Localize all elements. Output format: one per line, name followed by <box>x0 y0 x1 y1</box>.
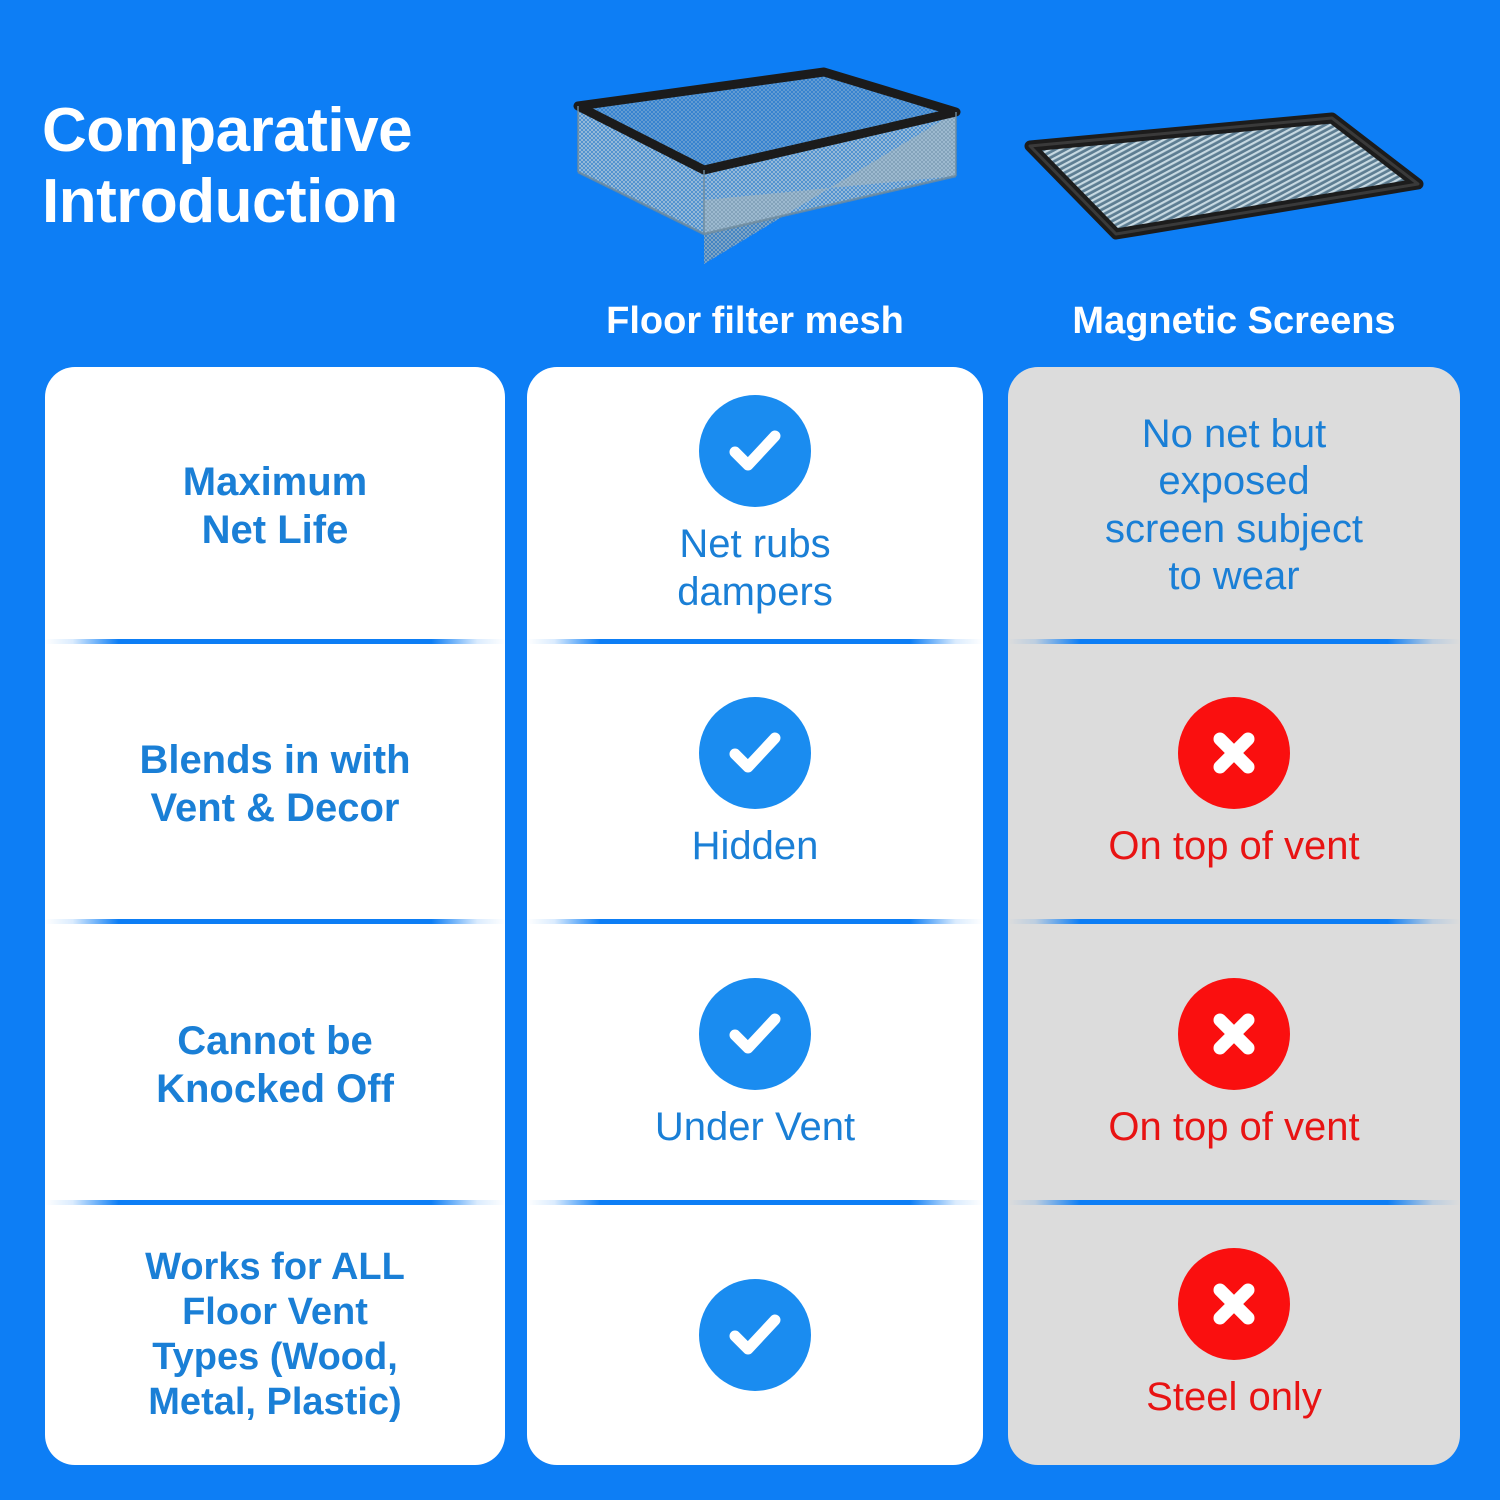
magnetic-screens-column-card: No net but exposed screen subject to wea… <box>1008 367 1460 1465</box>
feature-cell-cannot-be-knocked-off: Cannot be Knocked Off <box>45 924 505 1205</box>
magnetic-screen-panel-image <box>1014 88 1434 278</box>
cell-caption-line-2: dampers <box>677 569 833 616</box>
cell-caption-line-1: Net rubs <box>677 521 833 568</box>
floor-filter-mesh-column-card: Net rubs dampers Hidden Under Vent <box>527 367 983 1465</box>
check-icon <box>699 1279 811 1391</box>
feature-label-line-1: Maximum <box>183 458 368 506</box>
feature-cell-works-for-all-floor-vent-types: Works for ALL Floor Vent Types (Wood, Me… <box>45 1205 505 1465</box>
cell-caption: Net rubs dampers <box>677 521 833 615</box>
cell-caption: Steel only <box>1146 1374 1322 1421</box>
magnetic-cell-maximum-net-life: No net but exposed screen subject to wea… <box>1008 367 1460 644</box>
cell-caption-line-4: to wear <box>1105 553 1363 600</box>
feature-label: Maximum Net Life <box>183 458 368 554</box>
mesh-cell-works-for-all-vent-types <box>527 1205 983 1465</box>
magnetic-cell-blends-in: On top of vent <box>1008 644 1460 924</box>
cell-caption-line-2: exposed <box>1105 458 1363 505</box>
cell-caption: On top of vent <box>1108 823 1359 870</box>
check-icon <box>699 395 811 507</box>
feature-label-line-2: Floor Vent <box>145 1290 405 1335</box>
cell-caption: No net but exposed screen subject to wea… <box>1105 411 1363 600</box>
check-icon <box>699 697 811 809</box>
cell-caption-line-3: screen subject <box>1105 506 1363 553</box>
feature-label-line-4: Metal, Plastic) <box>145 1380 405 1425</box>
mesh-cell-maximum-net-life: Net rubs dampers <box>527 367 983 644</box>
feature-label: Works for ALL Floor Vent Types (Wood, Me… <box>145 1245 405 1424</box>
feature-cell-blends-in-with-vent-and-decor: Blends in with Vent & Decor <box>45 644 505 924</box>
cross-icon <box>1178 697 1290 809</box>
cross-icon <box>1178 1248 1290 1360</box>
page-title-line-1: Comparative <box>42 96 562 167</box>
check-icon <box>699 978 811 1090</box>
feature-label-line-2: Net Life <box>183 506 368 554</box>
feature-label: Blends in with Vent & Decor <box>139 736 410 832</box>
cell-caption: On top of vent <box>1108 1104 1359 1151</box>
feature-label-line-2: Vent & Decor <box>139 784 410 832</box>
feature-label-line-3: Types (Wood, <box>145 1335 405 1380</box>
page-title: Comparative Introduction <box>42 96 562 237</box>
cell-caption: Under Vent <box>655 1104 855 1151</box>
page-title-line-2: Introduction <box>42 167 562 238</box>
cell-caption: Hidden <box>692 823 819 870</box>
feature-label-line-2: Knocked Off <box>156 1065 394 1113</box>
floor-filter-mesh-basket-image <box>556 62 976 302</box>
feature-label: Cannot be Knocked Off <box>156 1017 394 1113</box>
cell-caption-line-1: No net but <box>1105 411 1363 458</box>
feature-label-line-1: Works for ALL <box>145 1245 405 1290</box>
features-column-card: Maximum Net Life Blends in with Vent & D… <box>45 367 505 1465</box>
feature-label-line-1: Blends in with <box>139 736 410 784</box>
magnetic-cell-cannot-be-knocked-off: On top of vent <box>1008 924 1460 1205</box>
feature-cell-maximum-net-life: Maximum Net Life <box>45 367 505 644</box>
cross-icon <box>1178 978 1290 1090</box>
mesh-cell-cannot-be-knocked-off: Under Vent <box>527 924 983 1205</box>
column-header-magnetic-screens: Magnetic Screens <box>1008 300 1460 343</box>
column-header-floor-filter-mesh: Floor filter mesh <box>527 300 983 343</box>
magnetic-cell-works-for-all-vent-types: Steel only <box>1008 1205 1460 1465</box>
mesh-cell-blends-in: Hidden <box>527 644 983 924</box>
feature-label-line-1: Cannot be <box>156 1017 394 1065</box>
